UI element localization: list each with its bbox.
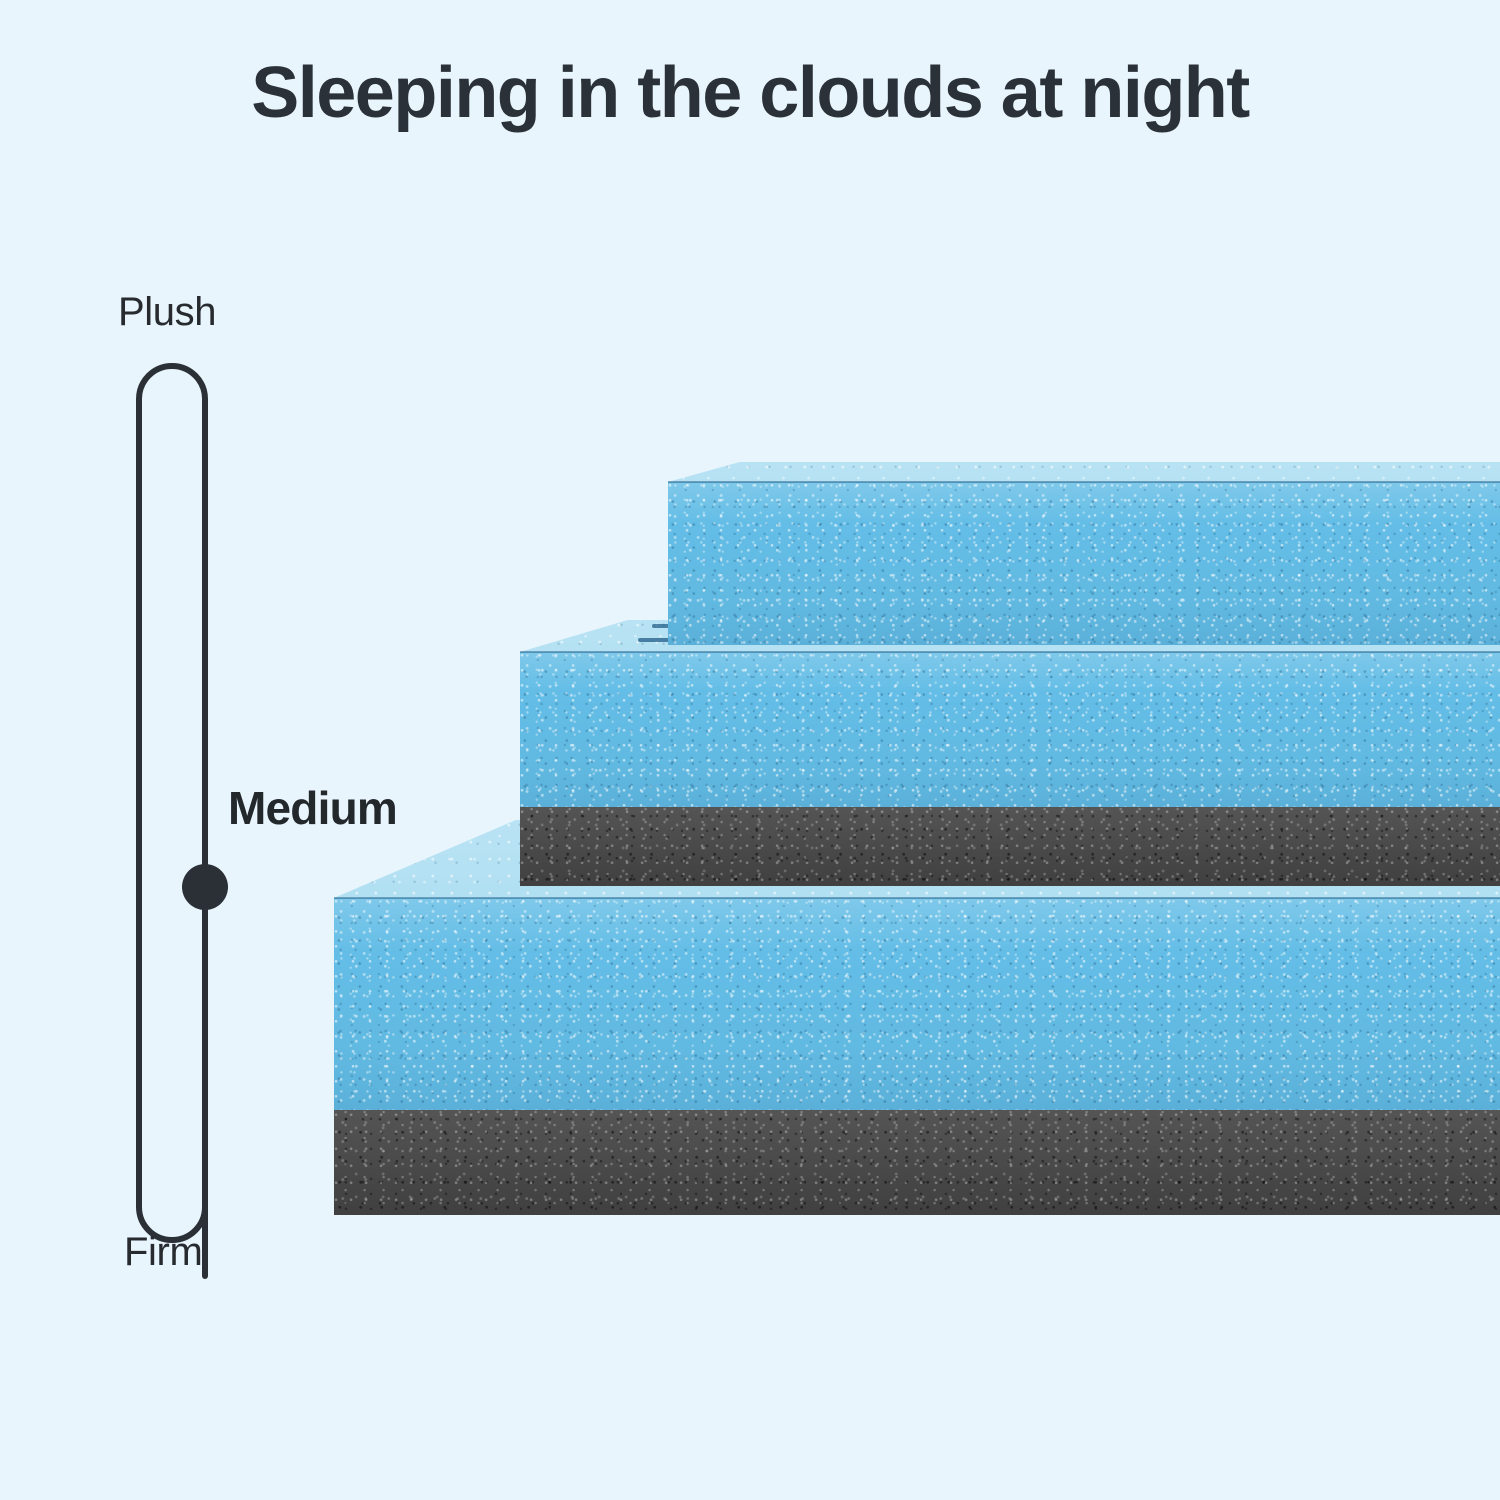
bottom-block-blue-layer — [334, 898, 1500, 1110]
slider-label-plush: Plush — [118, 290, 216, 335]
middle-block-blue-layer — [520, 652, 1500, 807]
slider-thumb[interactable] — [182, 864, 228, 910]
firmness-slider[interactable]: Plush Medium Firm — [110, 290, 470, 1300]
layer-seam — [520, 651, 1500, 653]
layer-seam — [334, 897, 1500, 899]
top-block — [668, 462, 1500, 648]
bottom-block-gray-layer — [334, 1110, 1500, 1215]
slider-track[interactable] — [136, 363, 208, 1243]
slider-label-firm: Firm — [124, 1230, 202, 1275]
top-block-blue-layer — [668, 482, 1500, 645]
slider-value-label: Medium — [228, 782, 397, 834]
middle-block — [520, 620, 1500, 888]
page-title: Sleeping in the clouds at night — [0, 52, 1500, 134]
layer-seam — [668, 481, 1500, 483]
product-infographic: Sleeping in the clouds at night — [0, 0, 1500, 1500]
middle-block-gray-layer — [520, 807, 1500, 886]
